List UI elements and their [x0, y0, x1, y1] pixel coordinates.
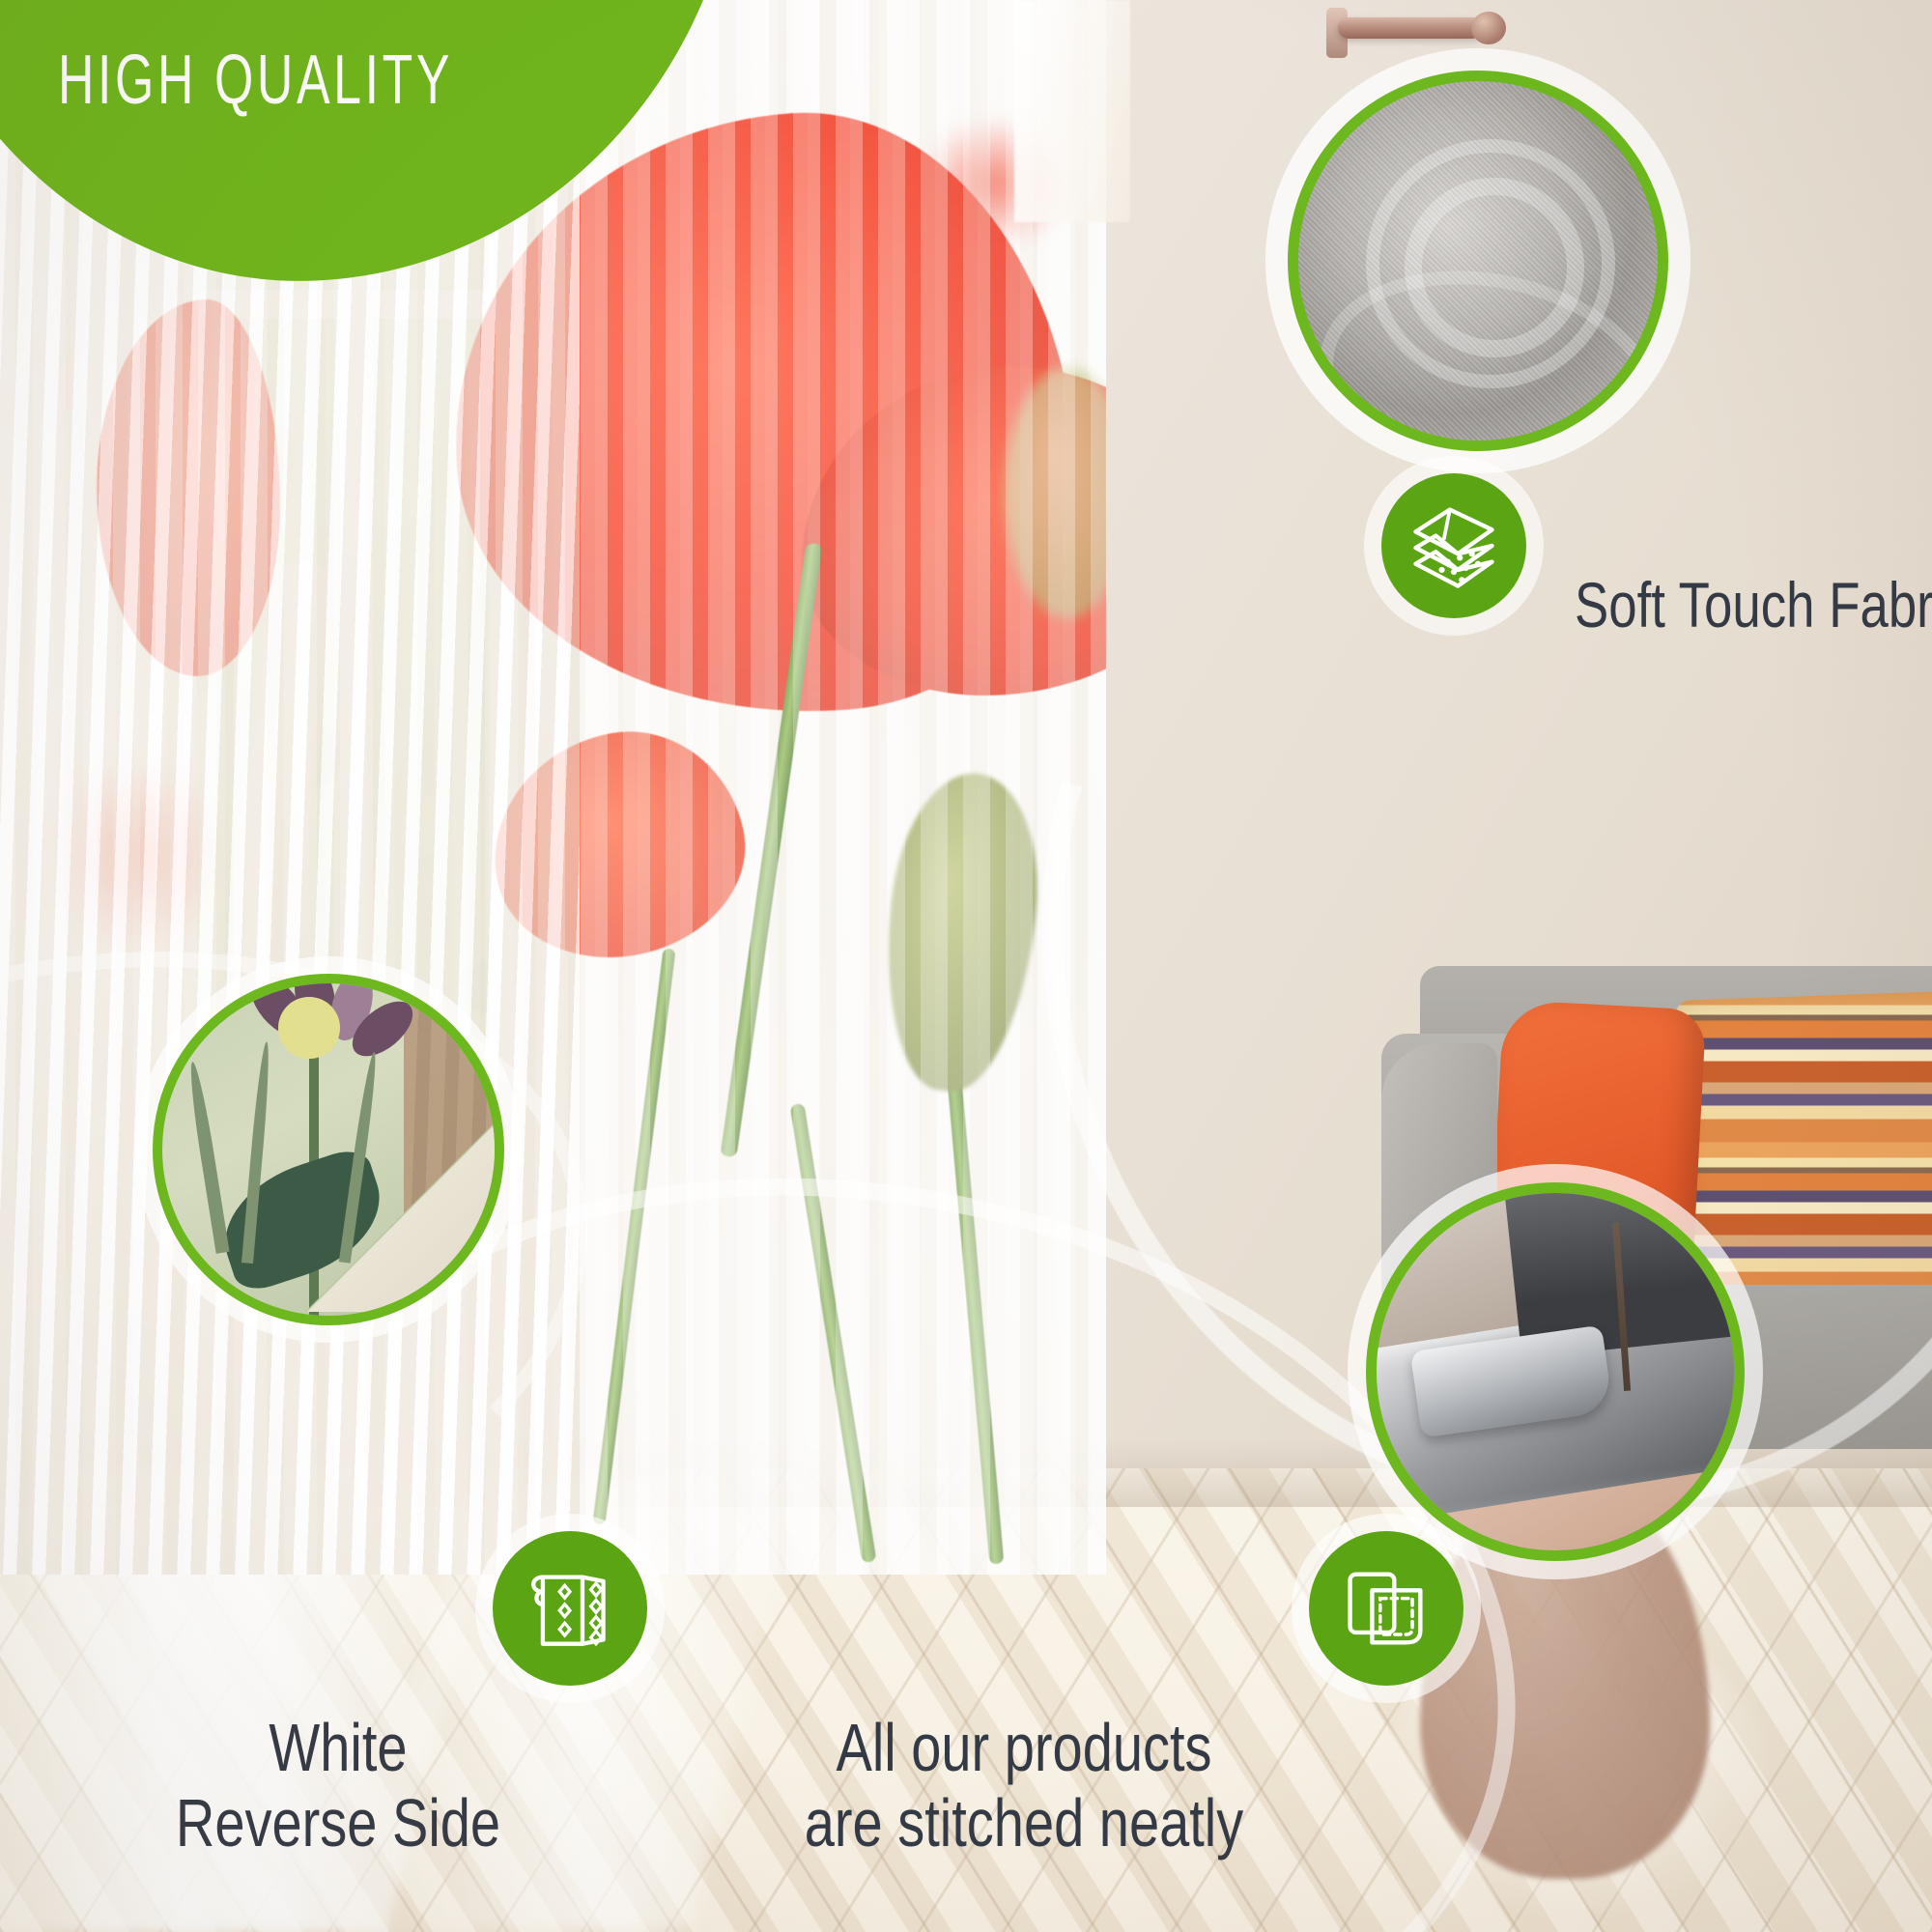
- curtain-header-fold: [1014, 0, 1130, 222]
- reverse-side-photo: [153, 974, 504, 1325]
- stitched-panels-icon: [1336, 1558, 1436, 1659]
- white-reverse-side-label: White Reverse Side: [39, 1710, 638, 1861]
- soft-touch-fabric-icon-badge[interactable]: [1381, 473, 1526, 618]
- curtain-rod-finial: [1471, 12, 1506, 44]
- soft-touch-line-1: Soft Touch Fabric: [1575, 570, 1932, 641]
- high-quality-label: HIGH QUALITY: [58, 41, 453, 120]
- sewing-machine-photo: [1366, 1182, 1745, 1561]
- white-reverse-line-1: White: [99, 1710, 578, 1785]
- stitched-neatly-icon-badge[interactable]: [1309, 1531, 1463, 1686]
- stitched-line-1: All our products: [738, 1710, 1310, 1785]
- soft-touch-fabric-label: Soft Touch Fabric: [1575, 570, 1932, 641]
- fabric-swatch-photo: [1288, 71, 1668, 451]
- curtain-rod: [1338, 17, 1483, 39]
- white-reverse-side-icon-badge[interactable]: [493, 1531, 647, 1686]
- fabric-layers-icon: [1404, 496, 1504, 596]
- stitched-line-2: are stitched neatly: [738, 1785, 1310, 1861]
- fabric-roll-icon: [518, 1556, 622, 1661]
- white-reverse-line-2: Reverse Side: [99, 1785, 578, 1861]
- fabric-weave-texture: [1298, 81, 1658, 440]
- printed-flower-center: [278, 997, 340, 1059]
- printed-grass-1: [185, 1061, 229, 1254]
- stitched-neatly-label: All our products are stitched neatly: [667, 1710, 1381, 1861]
- product-feature-graphic: Soft Touch Fabric: [0, 0, 1932, 1932]
